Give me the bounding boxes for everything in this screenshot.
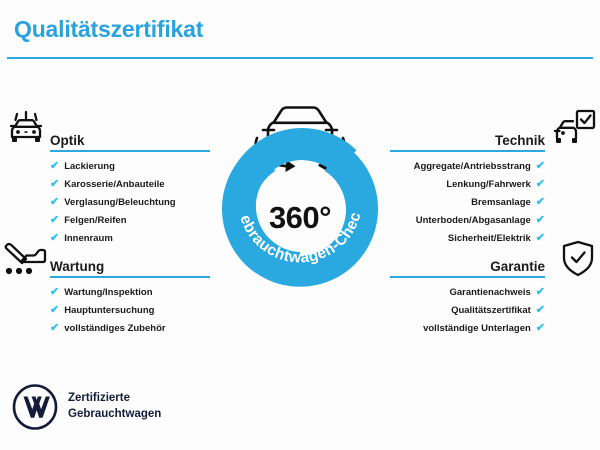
section-optik-divider (50, 150, 210, 152)
list-item: ✔ vollständiges Zubehör (50, 323, 210, 334)
footer-brand: Zertifizierte Gebrauchtwagen (12, 384, 161, 430)
vw-logo (12, 384, 58, 430)
list-item: Lenkung/Fahrwerk ✔ (390, 179, 545, 190)
section-garantie-title: Garantie (490, 259, 545, 274)
check-icon: ✔ (536, 305, 545, 316)
check-icon: ✔ (50, 233, 59, 244)
badge-degrees: 360° (196, 200, 404, 236)
list-item: ✔ Felgen/Reifen (50, 215, 210, 226)
check-icon: ✔ (50, 215, 59, 226)
list-item-label: Lackierung (64, 162, 115, 172)
section-technik-header: Technik (390, 126, 545, 152)
list-item: Bremsanlage ✔ (390, 197, 545, 208)
list-item-label: Sicherheit/Elektrik (448, 234, 531, 244)
section-garantie: Garantie Garantienachweis ✔ Qualitätszer… (390, 252, 545, 341)
list-item: ✔ Karosserie/Anbauteile (50, 179, 210, 190)
check-icon: ✔ (536, 161, 545, 172)
list-item-label: Qualitätszertifikat (451, 306, 531, 316)
section-technik-divider (390, 150, 545, 152)
list-item: ✔ Verglasung/Beleuchtung (50, 197, 210, 208)
check-icon: ✔ (50, 305, 59, 316)
section-wartung-list: ✔ Wartung/Inspektion ✔ Hauptuntersuchung… (50, 287, 210, 334)
check-icon: ✔ (50, 197, 59, 208)
check-icon: ✔ (536, 233, 545, 244)
list-item: ✔ Wartung/Inspektion (50, 287, 210, 298)
list-item-label: Verglasung/Beleuchtung (64, 198, 175, 208)
shield-check-icon (558, 238, 598, 287)
list-item-label: Bremsanlage (471, 198, 531, 208)
section-wartung-title: Wartung (50, 259, 104, 274)
section-optik-header: Optik (50, 126, 210, 152)
list-item: ✔ Hauptuntersuchung (50, 305, 210, 316)
list-item-label: Hauptuntersuchung (64, 306, 154, 316)
check-icon: ✔ (536, 323, 545, 334)
list-item: Aggregate/Antriebsstrang ✔ (390, 161, 545, 172)
car-checkbox-icon (552, 108, 598, 157)
list-item-label: vollständiges Zubehör (64, 324, 165, 334)
list-item-label: Innenraum (64, 234, 113, 244)
section-garantie-header: Garantie (390, 252, 545, 278)
list-item-label: vollständige Unterlagen (423, 324, 531, 334)
section-technik-title: Technik (495, 133, 545, 148)
certificate-page: Qualitätszertifikat (0, 0, 600, 450)
brand-text: Zertifizierte Gebrauchtwagen (68, 391, 161, 422)
check-icon: ✔ (50, 161, 59, 172)
list-item-label: Unterboden/Abgasanlage (416, 216, 531, 226)
list-item-label: Felgen/Reifen (64, 216, 126, 226)
check-icon: ✔ (536, 287, 545, 298)
list-item-label: Karosserie/Anbauteile (64, 180, 164, 190)
list-item: Unterboden/Abgasanlage ✔ (390, 215, 545, 226)
list-item: vollständige Unterlagen ✔ (390, 323, 545, 334)
page-title: Qualitätszertifikat (14, 16, 203, 43)
section-wartung: Wartung ✔ Wartung/Inspektion ✔ Hauptunte… (50, 252, 210, 341)
badge-360-gebrauchtwagen-check: Gebrauchtwagen-Check 360° (196, 98, 404, 290)
list-item: ✔ Innenraum (50, 233, 210, 244)
check-icon: ✔ (536, 215, 545, 226)
list-item-label: Lenkung/Fahrwerk (446, 180, 530, 190)
section-technik: Technik Aggregate/Antriebsstrang ✔ Lenku… (390, 126, 545, 251)
section-garantie-divider (390, 276, 545, 278)
brand-line-1: Zertifizierte (68, 391, 161, 407)
section-wartung-divider (50, 276, 210, 278)
list-item-label: Aggregate/Antriebsstrang (414, 162, 531, 172)
check-icon: ✔ (536, 179, 545, 190)
section-optik-title: Optik (50, 133, 85, 148)
check-icon: ✔ (50, 179, 59, 190)
list-item: ✔ Lackierung (50, 161, 210, 172)
title-divider (7, 57, 593, 59)
section-wartung-header: Wartung (50, 252, 210, 278)
section-optik-list: ✔ Lackierung ✔ Karosserie/Anbauteile ✔ V… (50, 161, 210, 244)
check-icon: ✔ (50, 323, 59, 334)
brand-line-2: Gebrauchtwagen (68, 407, 161, 423)
list-item: Sicherheit/Elektrik ✔ (390, 233, 545, 244)
check-icon: ✔ (50, 287, 59, 298)
list-item-label: Wartung/Inspektion (64, 288, 152, 298)
list-item-label: Garantienachweis (449, 288, 530, 298)
check-icon: ✔ (536, 197, 545, 208)
list-item: Qualitätszertifikat ✔ (390, 305, 545, 316)
list-item: Garantienachweis ✔ (390, 287, 545, 298)
section-technik-list: Aggregate/Antriebsstrang ✔ Lenkung/Fahrw… (390, 161, 545, 244)
section-garantie-list: Garantienachweis ✔ Qualitätszertifikat ✔… (390, 287, 545, 334)
car-shine-icon (4, 108, 48, 157)
car-service-wrench-icon (2, 238, 48, 287)
section-optik: Optik ✔ Lackierung ✔ Karosserie/Anbautei… (50, 126, 210, 251)
